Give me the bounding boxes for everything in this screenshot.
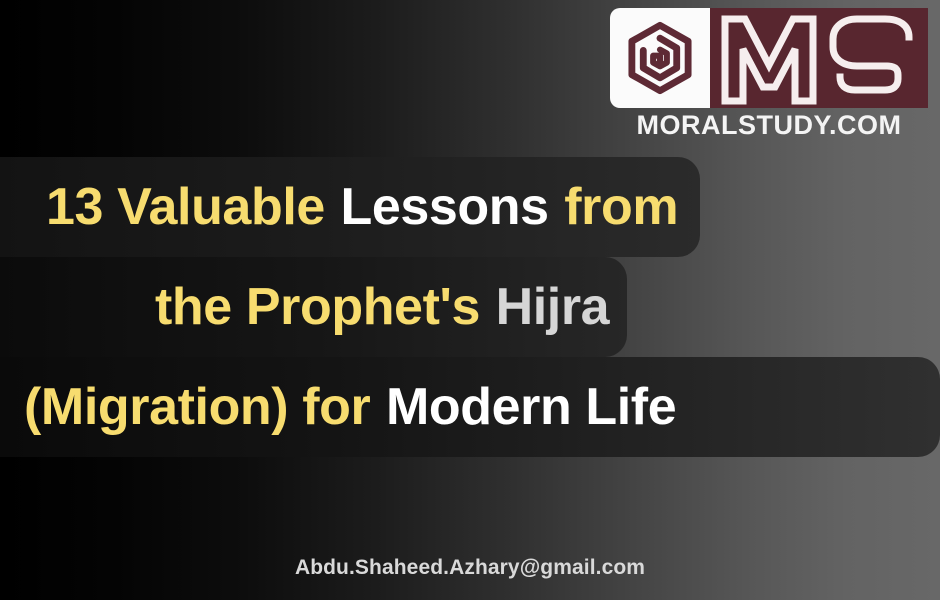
headline-line-1-plate: 13 Valuable Lessons from bbox=[0, 157, 700, 257]
logo-lockup bbox=[610, 8, 928, 108]
headline-seg-3b: Modern Life bbox=[386, 377, 676, 437]
headline-line-2: the Prophet's Hijra bbox=[0, 257, 940, 357]
headline-seg-1a: 13 Valuable bbox=[46, 177, 325, 237]
headline-line-3: (Migration) for Modern Life bbox=[0, 357, 940, 457]
poster-canvas: MORALSTUDY.COM 13 Valuable Lessons from … bbox=[0, 0, 940, 600]
logo-wordmark-banner bbox=[710, 8, 928, 108]
headline-seg-3a: (Migration) for bbox=[24, 377, 370, 437]
headline-line-1: 13 Valuable Lessons from bbox=[0, 157, 940, 257]
headline-block: 13 Valuable Lessons from the Prophet's H… bbox=[0, 157, 940, 457]
brand-domain-text: MORALSTUDY.COM bbox=[610, 111, 928, 139]
logo-mark-tile bbox=[610, 8, 710, 108]
headline-seg-2a: the Prophet's bbox=[155, 277, 480, 337]
hexagon-spiral-icon bbox=[622, 20, 698, 96]
headline-line-3-plate: (Migration) for Modern Life bbox=[0, 357, 940, 457]
footer-email-text: Abdu.Shaheed.Azhary@gmail.com bbox=[0, 556, 940, 580]
headline-line-2-plate: the Prophet's Hijra bbox=[0, 257, 627, 357]
ms-wordmark-icon bbox=[717, 9, 922, 107]
brand-block: MORALSTUDY.COM bbox=[610, 8, 928, 139]
headline-seg-1b: Lessons bbox=[340, 177, 548, 237]
headline-seg-2b: Hijra bbox=[496, 277, 610, 337]
headline-seg-1c: from bbox=[564, 177, 678, 237]
